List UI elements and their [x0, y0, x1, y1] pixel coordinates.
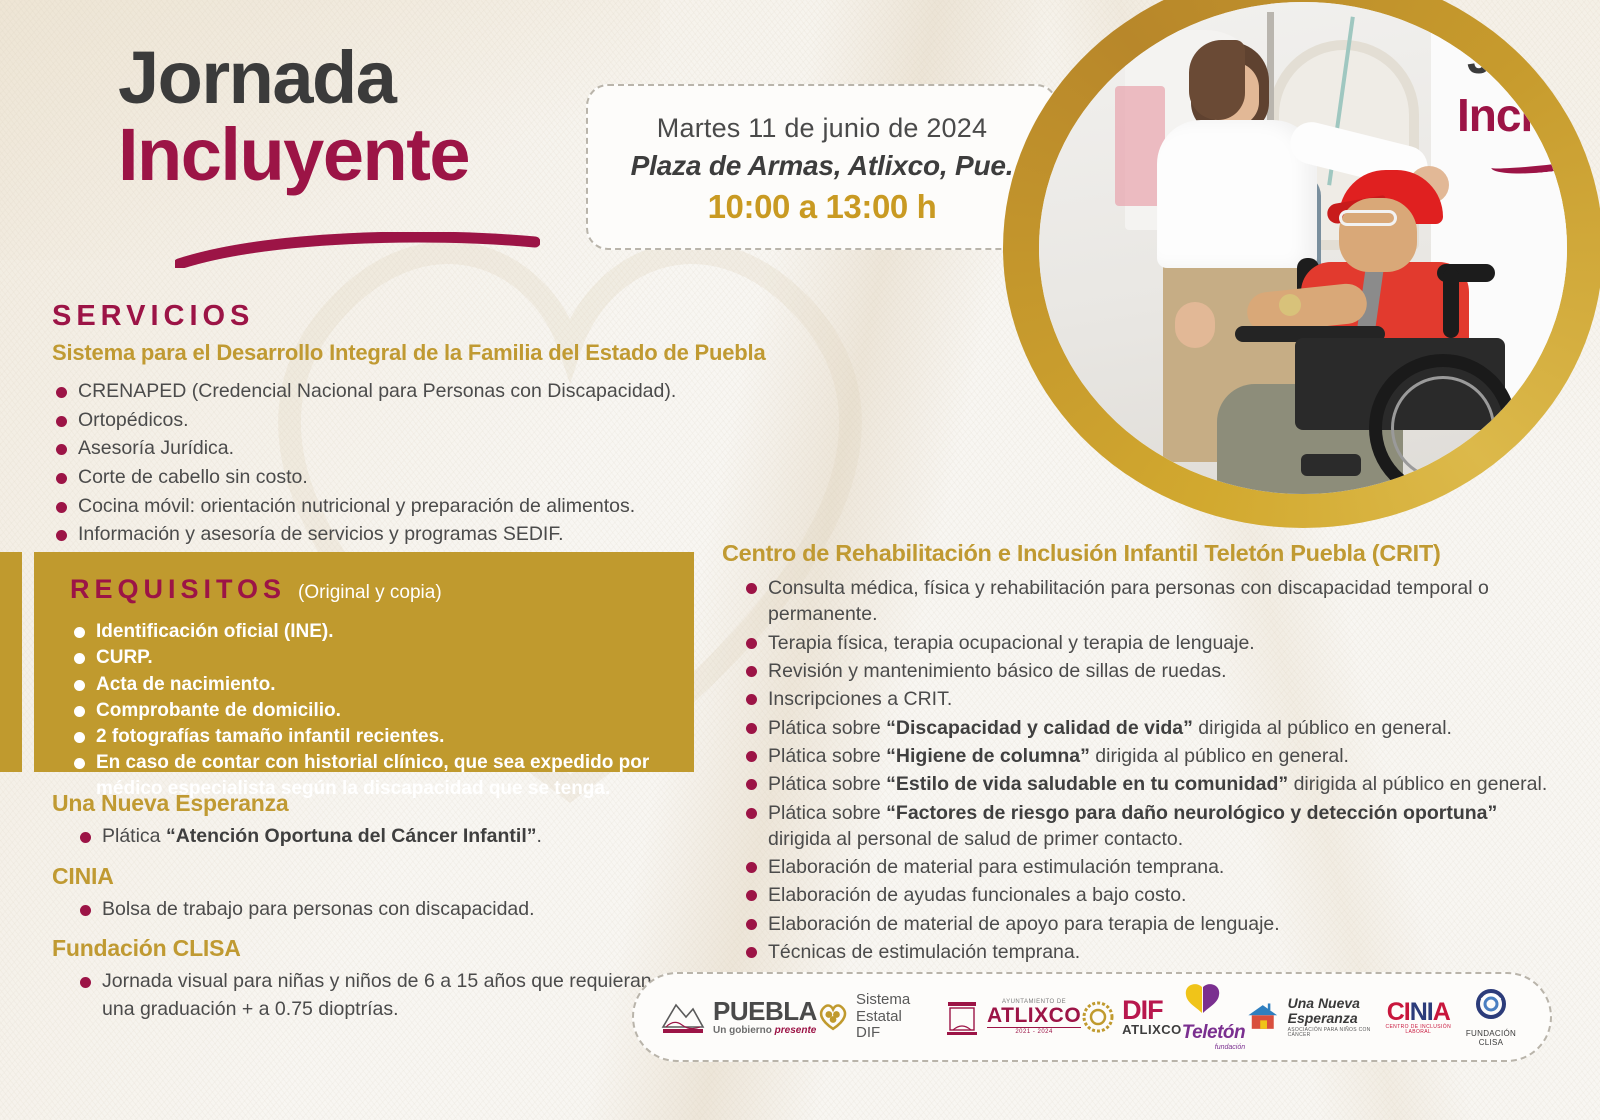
photo-banner-text-1: Jorn [1467, 30, 1563, 84]
list-item: Ortopédicos. [52, 407, 772, 435]
list-item: Consulta médica, física y rehabilitación… [742, 575, 1550, 628]
photo-frame: Jorn Incluy [1039, 2, 1567, 494]
dif-atlixco-city: ATLIXCO [1122, 1023, 1182, 1036]
event-details-card: Martes 11 de junio de 2024 Plaza de Arma… [586, 84, 1058, 250]
org-block: CINIA Bolsa de trabajo para personas con… [52, 863, 672, 924]
headline-line-2: Incluyente [118, 117, 588, 192]
list-item: Corte de cabello sin costo. [52, 464, 772, 492]
photo-banner-text-2: Incluy [1457, 88, 1567, 142]
list-item: Plática sobre “Discapacidad y calidad de… [742, 715, 1550, 741]
clisa-sub: FUNDACIÓN CLISA [1458, 1029, 1524, 1047]
requisitos-list: Identificación oficial (INE).CURP.Acta d… [70, 619, 664, 801]
cinia-wordmark: CINIA [1379, 1000, 1459, 1025]
list-item: Técnicas de estimulación temprana. [742, 939, 1550, 965]
poster-headline: Jornada Incluyente [118, 42, 588, 192]
teleton-wordmark: Teletón [1182, 1022, 1245, 1044]
puebla-tagline: Un gobierno presente [713, 1026, 817, 1036]
list-item: CRENAPED (Credencial Nacional para Perso… [52, 378, 772, 406]
requisitos-section: REQUISITOS (Original y copia) Identifica… [34, 552, 694, 772]
clisa-eye-ring-icon [1474, 987, 1508, 1021]
org-block: Fundación CLISA Jornada visual para niña… [52, 935, 672, 1023]
requisitos-title: REQUISITOS [70, 574, 286, 605]
list-item: 2 fotografías tamaño infantil recientes. [70, 724, 664, 749]
crit-title: Centro de Rehabilitación e Inclusión Inf… [722, 540, 1550, 567]
list-item: Jornada visual para niñas y niños de 6 a… [76, 968, 672, 1023]
org-title: Una Nueva Esperanza [52, 790, 672, 817]
list-item: Plática sobre “Higiene de columna” dirig… [742, 743, 1550, 769]
puebla-wordmark: PUEBLA [713, 998, 817, 1024]
headline-line-1: Jornada [118, 42, 588, 115]
logo-sistema-estatal-dif: Sistema Estatal DIF [817, 992, 944, 1042]
requisitos-header: REQUISITOS (Original y copia) [70, 574, 664, 605]
logo-fundacion-clisa: FUNDACIÓN CLISA [1458, 987, 1524, 1047]
list-item: Revisión y mantenimiento básico de silla… [742, 658, 1550, 684]
sponsor-logo-bar: PUEBLA Un gobierno presente Sistema Esta… [632, 972, 1552, 1062]
atlixco-period: 2021 - 2024 [987, 1027, 1081, 1035]
list-item: Comprobante de domicilio. [70, 698, 664, 723]
list-item: Plática sobre “Factores de riesgo para d… [742, 800, 1550, 853]
event-time: 10:00 a 13:00 h [708, 188, 937, 226]
list-item: Elaboración de material para estimulació… [742, 854, 1550, 880]
list-item: Acta de nacimiento. [70, 672, 664, 697]
org-block: Una Nueva Esperanza Plática “Atención Op… [52, 790, 672, 851]
event-place: Plaza de Armas, Atlixco, Pue. [631, 148, 1014, 184]
crit-list: Consulta médica, física y rehabilitación… [742, 575, 1550, 994]
logo-teleton: Teletón fundación [1182, 983, 1245, 1051]
servicios-list: CRENAPED (Credencial Nacional para Perso… [52, 378, 772, 578]
logo-cinia: CINIA CENTRO DE INCLUSIÓN LABORAL [1379, 1000, 1459, 1035]
servicios-subtitle: Sistema para el Desarrollo Integral de l… [52, 340, 772, 366]
teleton-heart-icon [1182, 983, 1224, 1017]
crit-section: Centro de Rehabilitación e Inclusión Inf… [722, 540, 1550, 996]
dif-atlixco-wordmark: DIF [1122, 998, 1182, 1022]
servicios-title: SERVICIOS [52, 300, 772, 333]
list-item: CURP. [70, 645, 664, 670]
teleton-sub: fundación [1182, 1044, 1245, 1051]
list-item: Elaboración de ayudas funcionales a bajo… [742, 882, 1550, 908]
org-list: Plática “Atención Oportuna del Cáncer In… [76, 823, 672, 851]
dif-atlixco-rosette-icon [1081, 1000, 1115, 1034]
event-photo: Jorn Incluy [1003, 0, 1600, 528]
list-item: Asesoría Jurídica. [52, 435, 772, 463]
logo-ayuntamiento-atlixco: AYUNTAMIENTO DE ATLIXCO 2021 - 2024 [944, 996, 1081, 1038]
logo-puebla: PUEBLA Un gobierno presente [660, 997, 817, 1037]
org-title: Fundación CLISA [52, 935, 672, 962]
dif-line-2: DIF [856, 1025, 944, 1042]
org-list: Bolsa de trabajo para personas con disca… [76, 896, 672, 924]
list-item: Terapia física, terapia ocupacional y te… [742, 630, 1550, 656]
house-icon [1245, 999, 1281, 1035]
poster-canvas: Jornada Incluyente Martes 11 de junio de… [0, 0, 1600, 1120]
org-list: Jornada visual para niñas y niños de 6 a… [76, 968, 672, 1023]
list-item: Elaboración de material de apoyo para te… [742, 911, 1550, 937]
cinia-sub: CENTRO DE INCLUSIÓN LABORAL [1379, 1025, 1459, 1035]
logo-una-nueva-esperanza: Una Nueva Esperanza ASOCIACIÓN PARA NIÑO… [1245, 996, 1378, 1037]
event-date: Martes 11 de junio de 2024 [657, 112, 987, 146]
list-item: Plática sobre “Estilo de vida saludable … [742, 771, 1550, 797]
requisitos-accent-strip [0, 552, 22, 772]
puebla-volcano-icon [660, 997, 706, 1037]
dif-line-1: Sistema Estatal [856, 991, 910, 1025]
une-sub: ASOCIACIÓN PARA NIÑOS CON CÁNCER [1288, 1028, 1379, 1038]
list-item: Cocina móvil: orientación nutricional y … [52, 493, 772, 521]
atlixco-building-icon [944, 996, 980, 1038]
requisitos-note: (Original y copia) [298, 582, 442, 604]
list-item: Identificación oficial (INE). [70, 619, 664, 644]
list-item: Información y asesoría de servicios y pr… [52, 521, 772, 549]
partner-orgs-section: Una Nueva Esperanza Plática “Atención Op… [52, 790, 672, 1025]
atlixco-wordmark: ATLIXCO [987, 1005, 1081, 1026]
logo-dif-atlixco: DIF ATLIXCO [1081, 998, 1182, 1035]
list-item: Plática “Atención Oportuna del Cáncer In… [76, 823, 672, 851]
list-item: Bolsa de trabajo para personas con disca… [76, 896, 672, 924]
list-item: Inscripciones a CRIT. [742, 686, 1550, 712]
headline-swoosh-icon [175, 232, 540, 268]
servicios-section: SERVICIOS Sistema para el Desarrollo Int… [52, 300, 772, 579]
dif-heart-icon [817, 999, 849, 1035]
org-title: CINIA [52, 863, 672, 890]
une-line-1: Una Nueva [1288, 996, 1379, 1011]
une-line-2: Esperanza [1288, 1011, 1379, 1026]
